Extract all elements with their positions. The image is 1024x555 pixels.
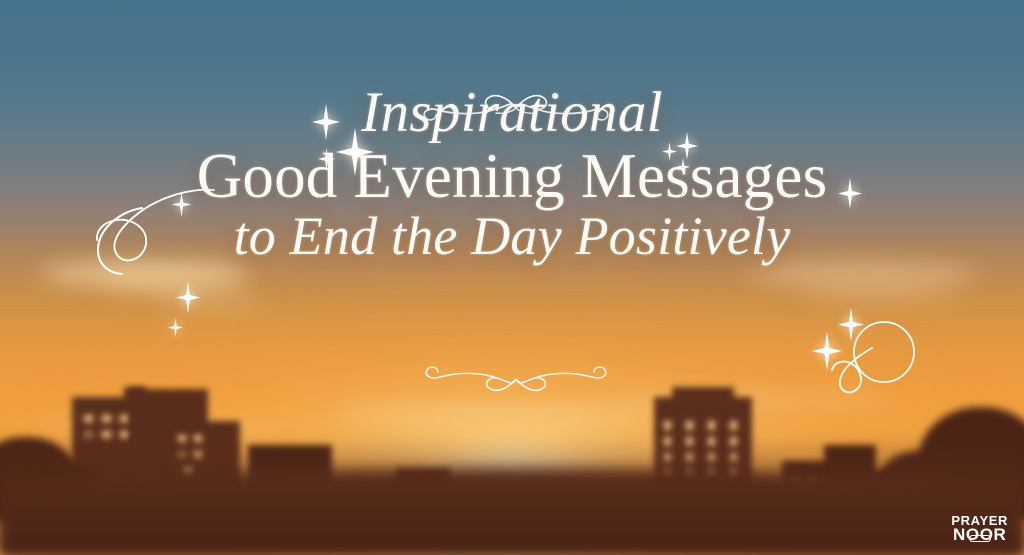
title-block: Inspirational Good Evening Messages to E… — [0, 84, 1024, 264]
logo-line-2: NOOR — [951, 527, 1008, 543]
sparkle-icon — [676, 158, 690, 176]
promo-banner: Inspirational Good Evening Messages to E… — [0, 0, 1024, 555]
sparkle-icon — [318, 148, 335, 170]
building-cap — [672, 387, 734, 405]
sparkle-icon — [812, 332, 842, 370]
sparkle-icon — [336, 128, 374, 176]
sparkle-icon — [662, 142, 677, 161]
title-line-1: Inspirational — [0, 84, 1024, 142]
brand-logo: PRAYER NOOR — [951, 515, 1008, 543]
title-line-3: to End the Day Positively — [0, 209, 1024, 264]
logo-bridge-icon — [969, 535, 991, 542]
sparkle-icon — [838, 178, 862, 209]
page-title: Inspirational Good Evening Messages to E… — [0, 84, 1024, 264]
sparkle-icon — [168, 318, 183, 337]
sparkle-icon — [172, 192, 191, 217]
sparkle-icon — [176, 282, 200, 313]
city-skyline — [0, 365, 1024, 555]
title-line-2: Good Evening Messages — [0, 144, 1024, 208]
ground-haze — [0, 435, 1024, 555]
sparkle-icon — [676, 132, 698, 160]
